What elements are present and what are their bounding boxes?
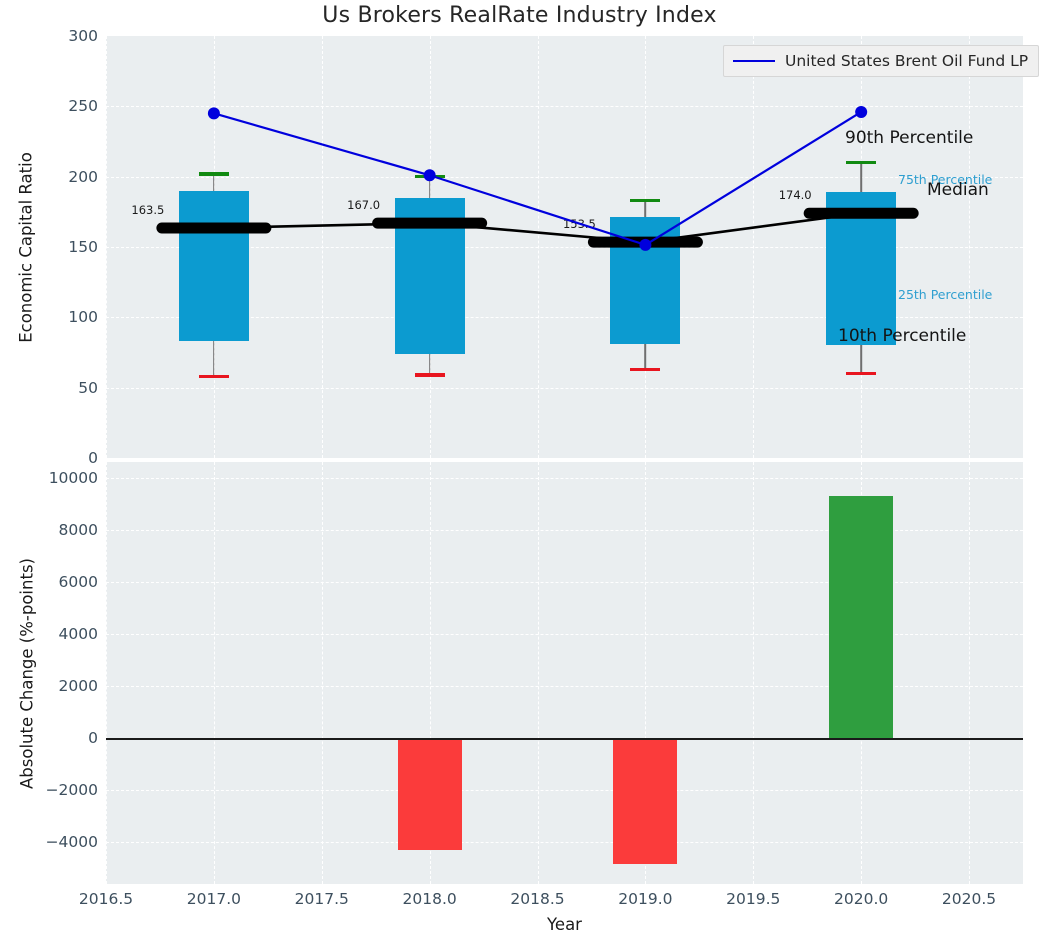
x-tick-label: 2018.0: [403, 890, 457, 908]
absolute-change-bar[interactable]: [398, 738, 462, 850]
plot-area-bottom: [106, 462, 1023, 884]
median-value-label: 174.0: [779, 188, 812, 202]
legend-line-swatch: [733, 60, 775, 62]
y-tick-label: 2000: [2, 677, 98, 695]
gridline-vertical: [969, 36, 970, 458]
p90-cap-marker: [199, 172, 229, 175]
box-bar[interactable]: [395, 198, 465, 354]
y-tick-label: 10000: [2, 469, 98, 487]
zero-baseline: [106, 738, 1023, 740]
x-tick-label: 2018.5: [510, 890, 564, 908]
y-axis-ticks-bottom: −4000−20000200040006000800010000: [0, 462, 98, 884]
p10-cap-marker: [630, 368, 660, 371]
x-axis-title: Year: [106, 915, 1023, 934]
x-tick-label: 2017.5: [295, 890, 349, 908]
y-tick-label: 300: [2, 27, 98, 45]
legend-item-label: United States Brent Oil Fund LP: [785, 52, 1028, 70]
x-tick-label: 2020.0: [834, 890, 888, 908]
subplot-economic-capital-ratio: 163.5167.0153.5174.0: [106, 36, 1023, 458]
legend[interactable]: United States Brent Oil Fund LP: [723, 45, 1039, 77]
absolute-change-bar[interactable]: [829, 496, 893, 738]
x-tick-label: 2019.0: [618, 890, 672, 908]
y-tick-label: −4000: [2, 833, 98, 851]
gridline-vertical: [969, 462, 970, 884]
y-tick-label: 6000: [2, 573, 98, 591]
x-tick-label: 2017.0: [187, 890, 241, 908]
gridline-vertical: [106, 36, 107, 458]
gridline-vertical: [322, 462, 323, 884]
plot-area-top: 163.5167.0153.5174.0: [106, 36, 1023, 458]
gridline-vertical: [753, 36, 754, 458]
y-tick-label: 4000: [2, 625, 98, 643]
p90-cap-marker: [630, 199, 660, 202]
median-value-label: 153.5: [563, 217, 596, 231]
annotation-90th-percentile: 90th Percentile: [845, 128, 973, 148]
x-tick-label: 2016.5: [79, 890, 133, 908]
gridline-horizontal: [106, 106, 1023, 107]
y-tick-label: −2000: [2, 781, 98, 799]
y-axis-title-top: Economic Capital Ratio: [17, 138, 36, 358]
y-tick-label: 50: [2, 379, 98, 397]
x-axis-ticks: 2016.52017.02017.52018.02018.52019.02019…: [106, 890, 1023, 912]
gridline-horizontal: [106, 177, 1023, 178]
p10-cap-marker: [199, 375, 229, 378]
x-tick-label: 2020.5: [942, 890, 996, 908]
subplot-absolute-change: [106, 462, 1023, 884]
p10-cap-marker: [415, 373, 445, 376]
y-tick-label: 0: [2, 729, 98, 747]
y-tick-label: 250: [2, 97, 98, 115]
box-bar[interactable]: [179, 191, 249, 342]
x-tick-label: 2019.5: [726, 890, 780, 908]
gridline-horizontal: [106, 790, 1023, 791]
gridline-vertical: [538, 36, 539, 458]
gridline-horizontal: [106, 478, 1023, 479]
page-title: Us Brokers RealRate Industry Index: [0, 3, 1039, 28]
y-axis-ticks-top: 050100150200250300: [0, 36, 98, 458]
gridline-horizontal: [106, 388, 1023, 389]
p90-cap-marker: [415, 175, 445, 178]
annotation-25th-percentile: 25th Percentile: [898, 287, 992, 302]
p90-cap-marker: [846, 161, 876, 164]
gridline-vertical: [214, 462, 215, 884]
median-value-label: 163.5: [131, 203, 164, 217]
gridline-vertical: [753, 462, 754, 884]
y-axis-title-bottom: Absolute Change (%-points): [18, 529, 37, 819]
absolute-change-bar[interactable]: [613, 738, 677, 864]
p10-cap-marker: [846, 372, 876, 375]
median-value-label: 167.0: [347, 198, 380, 212]
y-tick-label: 8000: [2, 521, 98, 539]
annotation-10th-percentile: 10th Percentile: [838, 326, 966, 346]
box-bar[interactable]: [826, 192, 896, 345]
annotation-median: Median: [927, 180, 989, 200]
box-bar[interactable]: [610, 217, 680, 344]
gridline-vertical: [106, 462, 107, 884]
gridline-vertical: [538, 462, 539, 884]
gridline-horizontal: [106, 842, 1023, 843]
gridline-vertical: [322, 36, 323, 458]
chart-root: Us Brokers RealRate Industry Index 163.5…: [0, 0, 1039, 942]
